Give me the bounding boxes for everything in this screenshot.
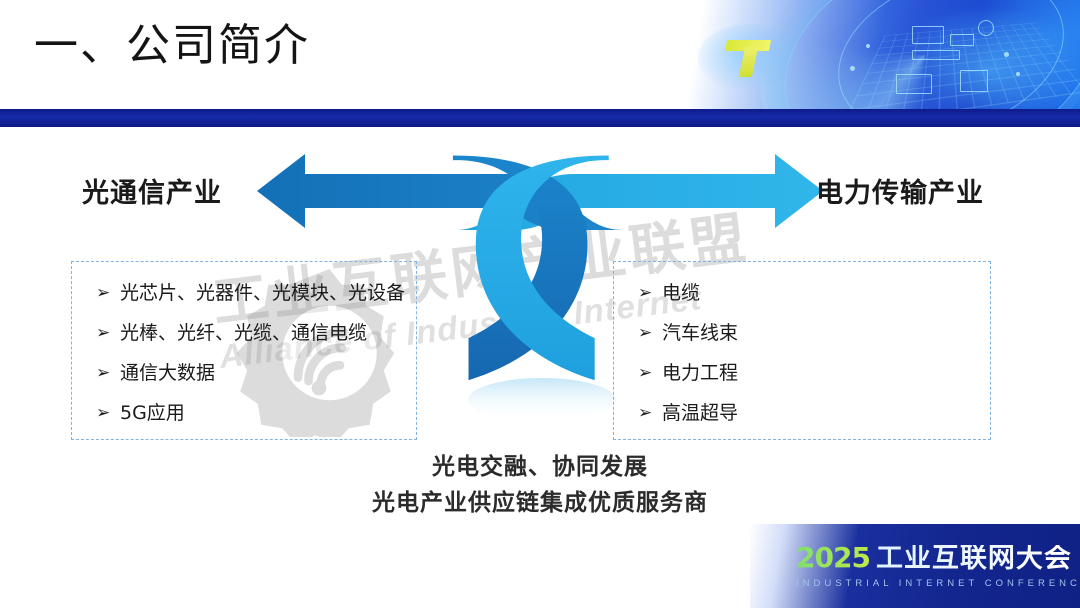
bullet-arrow-icon: ➢ xyxy=(96,396,120,430)
footer-conference-cn: 工业互联网大会 xyxy=(876,545,1072,572)
presentation-slide: 一、公司简介 工业互联网产业联盟 Alliance of Industrial … xyxy=(0,0,1080,608)
tech-circuit-globe-graphic xyxy=(660,0,1080,112)
left-items-list: ➢ 光芯片、光器件、光模块、光设备 ➢ 光棒、光纤、光缆、通信电缆 ➢ 通信大数… xyxy=(96,276,405,436)
list-item[interactable]: ➢ 光棒、光纤、光缆、通信电缆 xyxy=(96,316,405,350)
bullet-arrow-icon: ➢ xyxy=(96,276,120,310)
bullet-arrow-icon: ➢ xyxy=(96,356,120,390)
right-items-list: ➢ 电缆 ➢ 汽车线束 ➢ 电力工程 ➢ 高温超导 xyxy=(638,276,738,436)
art-dot-decor xyxy=(866,44,870,48)
list-item-label: 电力工程 xyxy=(662,356,738,390)
art-chip-decor xyxy=(912,26,944,44)
footer-conference-en: INDUSTRIAL INTERNET CONFERENCE xyxy=(796,578,1080,589)
art-chip-decor xyxy=(950,34,974,46)
bidirectional-arrow-graphic xyxy=(255,152,825,230)
bullet-arrow-icon: ➢ xyxy=(638,316,662,350)
tagline-line-1: 光电交融、协同发展 xyxy=(0,450,1080,484)
art-chip-decor xyxy=(978,20,994,36)
bullet-arrow-icon: ➢ xyxy=(638,276,662,310)
list-item[interactable]: ➢ 电缆 xyxy=(638,276,738,310)
list-item[interactable]: ➢ 光芯片、光器件、光模块、光设备 xyxy=(96,276,405,310)
art-chip-decor xyxy=(912,50,960,60)
slide-header: 一、公司简介 xyxy=(0,0,1080,112)
bullet-arrow-icon: ➢ xyxy=(638,356,662,390)
list-item[interactable]: ➢ 汽车线束 xyxy=(638,316,738,350)
list-item-label: 光棒、光纤、光缆、通信电缆 xyxy=(120,316,367,350)
tagline-block: 光电交融、协同发展 光电产业供应链集成优质服务商 xyxy=(0,450,1080,522)
right-items-box: ➢ 电缆 ➢ 汽车线束 ➢ 电力工程 ➢ 高温超导 xyxy=(613,261,991,440)
conference-footer-banner: 2025 工业互联网大会 INDUSTRIAL INTERNET CONFERE… xyxy=(750,524,1080,608)
list-item[interactable]: ➢ 5G应用 xyxy=(96,396,405,430)
left-branch-label: 光通信产业 xyxy=(82,171,222,210)
list-item[interactable]: ➢ 通信大数据 xyxy=(96,356,405,390)
arrow-right-icon xyxy=(455,154,823,230)
list-item-label: 高温超导 xyxy=(662,396,738,430)
list-item-label: 通信大数据 xyxy=(120,356,215,390)
page-title: 一、公司简介 xyxy=(34,24,310,68)
art-chip-decor xyxy=(960,70,988,92)
list-item[interactable]: ➢ 电力工程 xyxy=(638,356,738,390)
list-item-label: 5G应用 xyxy=(120,396,185,430)
footer-year: 2025 xyxy=(796,544,870,572)
art-dot-decor xyxy=(1016,72,1020,76)
tagline-line-2: 光电产业供应链集成优质服务商 xyxy=(0,484,1080,522)
bullet-arrow-icon: ➢ xyxy=(96,316,120,350)
art-dot-decor xyxy=(850,66,855,71)
list-item-label: 电缆 xyxy=(662,276,700,310)
list-item-label: 光芯片、光器件、光模块、光设备 xyxy=(120,276,405,310)
left-items-box: ➢ 光芯片、光器件、光模块、光设备 ➢ 光棒、光纤、光缆、通信电缆 ➢ 通信大数… xyxy=(71,261,417,440)
list-item-label: 汽车线束 xyxy=(662,316,738,350)
right-branch-label: 电力传输产业 xyxy=(816,171,984,210)
list-item[interactable]: ➢ 高温超导 xyxy=(638,396,738,430)
t-logo-icon xyxy=(720,34,776,80)
art-chip-decor xyxy=(896,74,932,94)
art-dot-decor xyxy=(1004,52,1009,57)
title-divider-bar xyxy=(0,109,1080,127)
bullet-arrow-icon: ➢ xyxy=(638,396,662,430)
arrow-left-icon xyxy=(257,154,623,230)
